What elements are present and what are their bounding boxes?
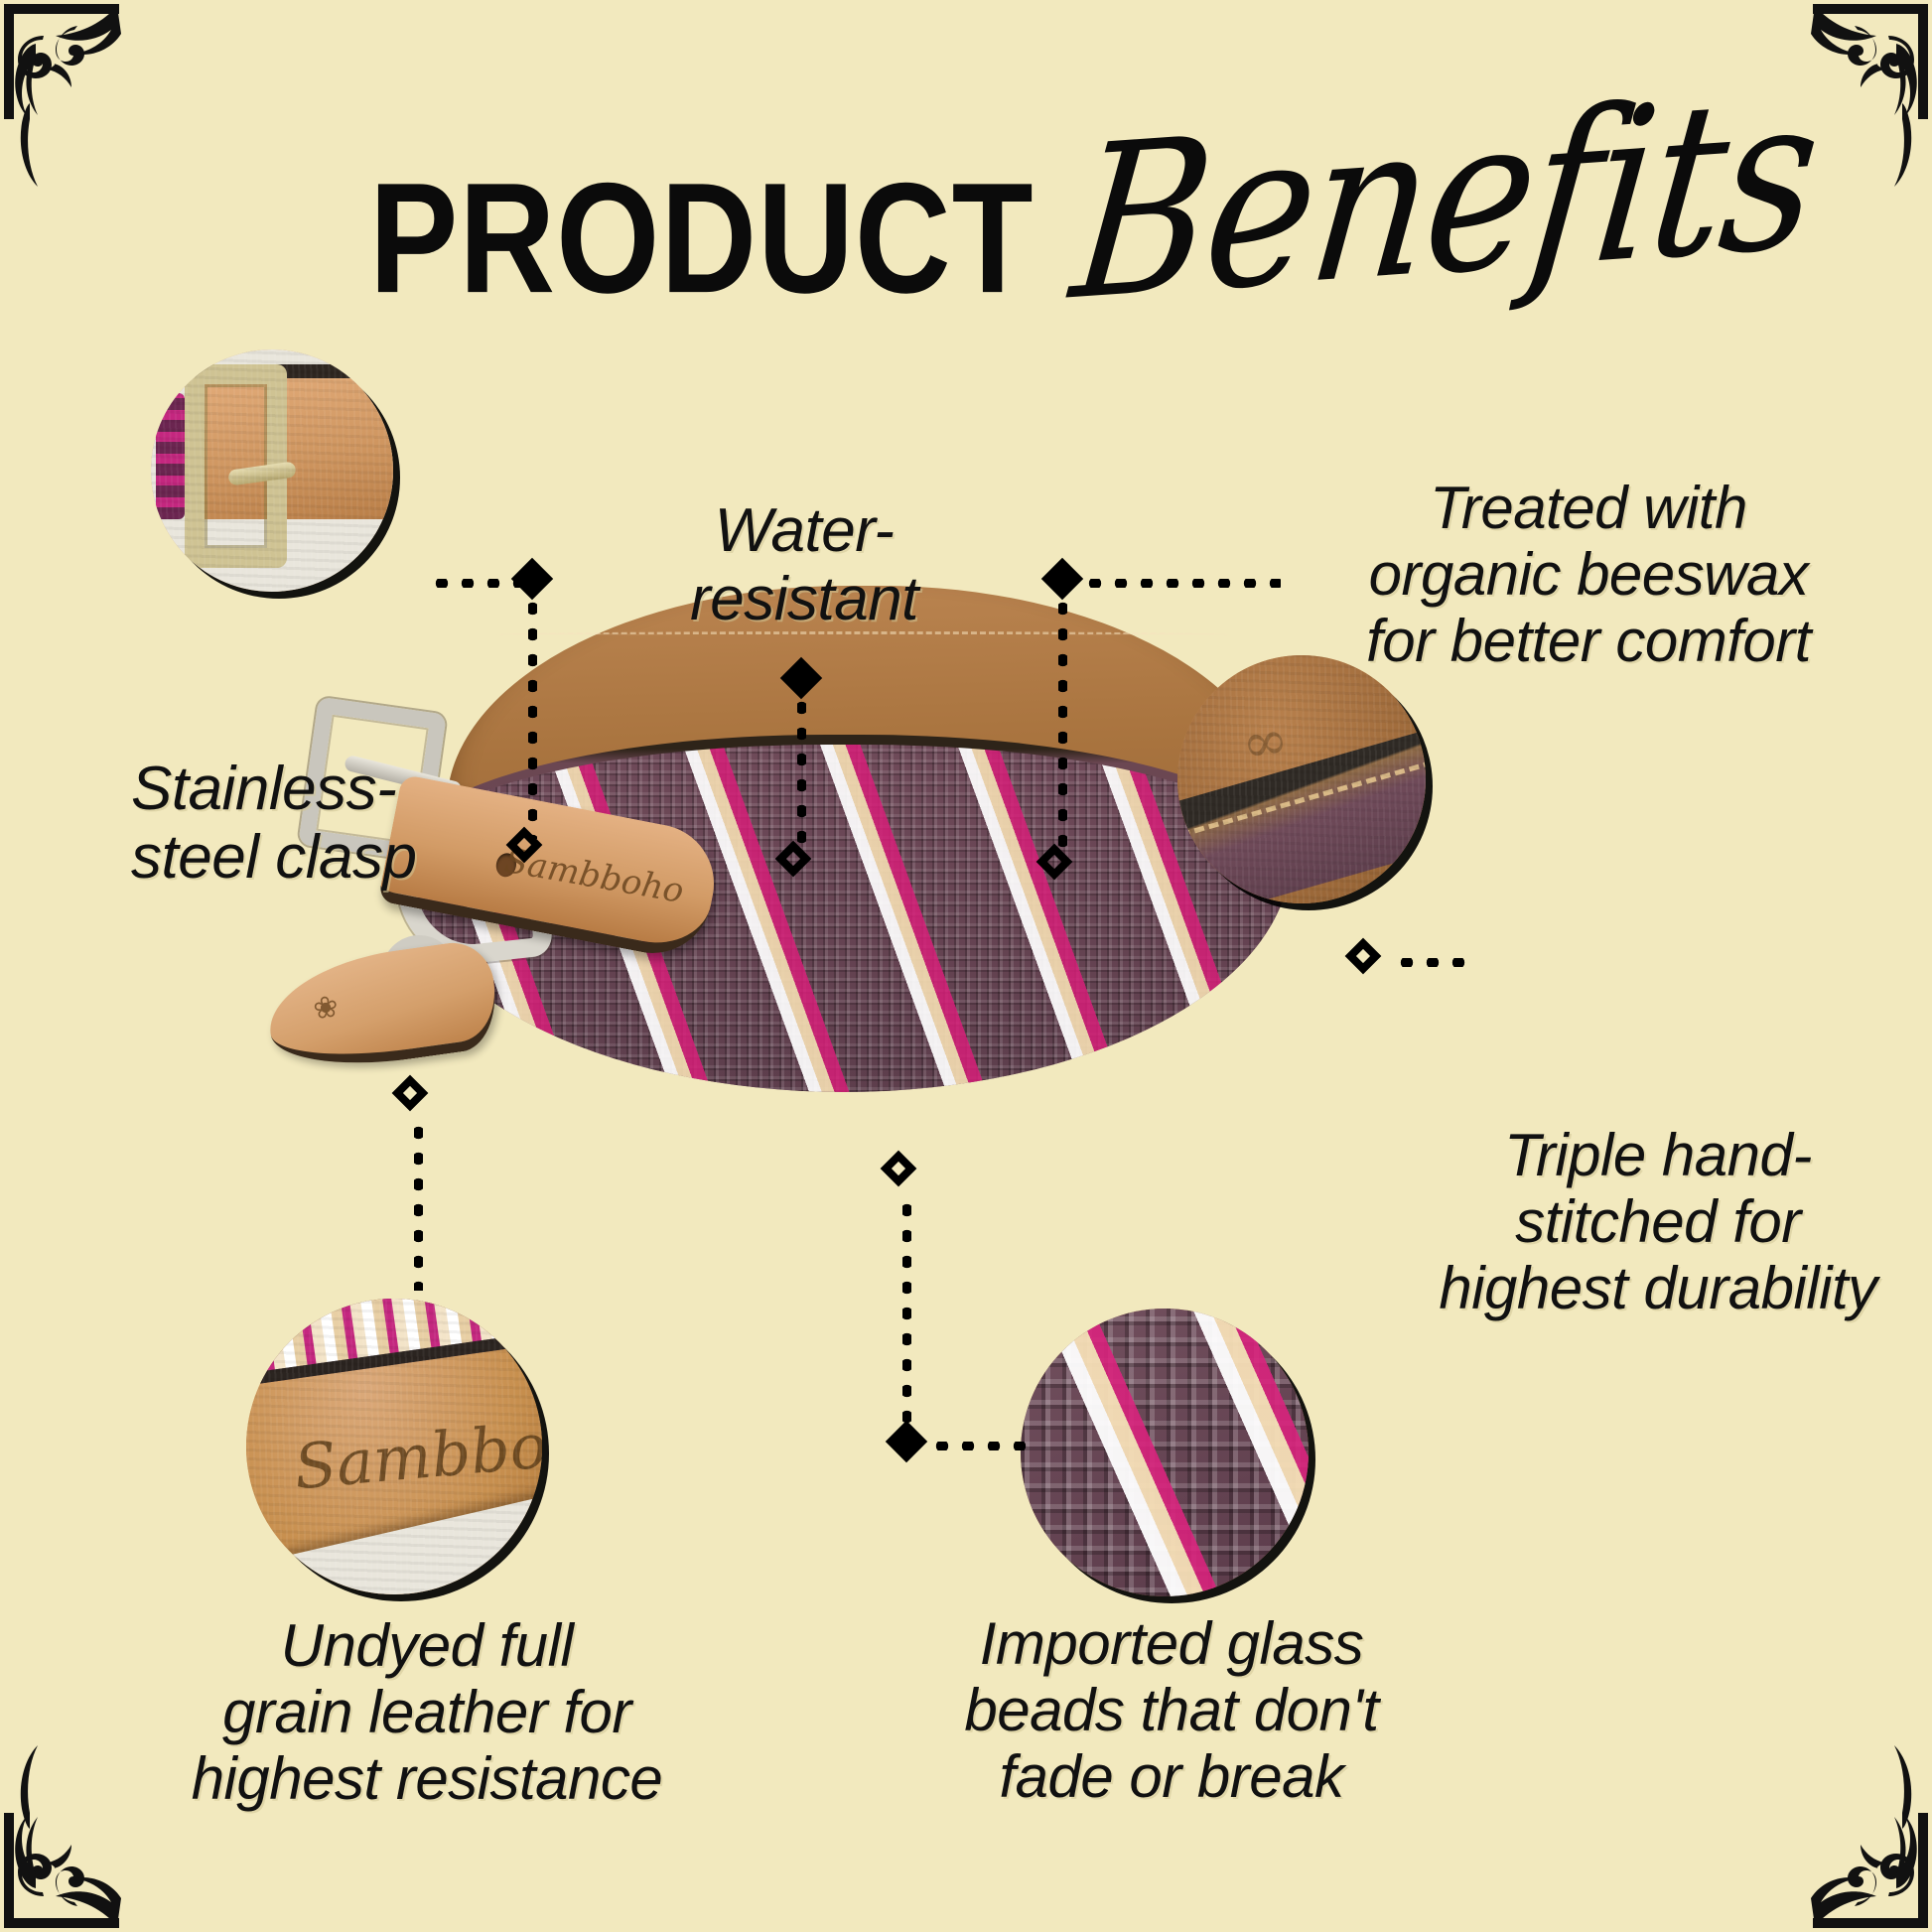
burned-brand-icon: ∞ xyxy=(1238,707,1293,777)
photo-circle-glass-beads xyxy=(1021,1309,1309,1596)
connector-start-diamond xyxy=(886,1421,927,1462)
infographic-canvas: PRODUCT Benefits Sambboho ❀ ∞ xyxy=(0,0,1932,1932)
callout-line: stitched for xyxy=(1400,1188,1916,1255)
callout-line: steel clasp xyxy=(131,823,548,892)
callout-line: fade or break xyxy=(923,1743,1420,1810)
callout-line: Undyed full xyxy=(149,1612,705,1679)
photo-circle-stitching: ∞ xyxy=(1177,655,1426,903)
title-benefits-script: Benefits xyxy=(1065,68,1826,331)
callout-line: beads that don't xyxy=(923,1677,1420,1743)
callout-label-glass-beads: Imported glass beads that don't fade or … xyxy=(923,1610,1420,1811)
callout-label-stainless-steel-clasp: Stainless- steel clasp xyxy=(131,755,548,893)
callout-line: Stainless- xyxy=(131,755,548,823)
callout-line: Imported glass xyxy=(923,1610,1420,1677)
callout-line: grain leather for xyxy=(149,1679,705,1745)
tag-flourish-icon: ❀ xyxy=(311,989,341,1027)
callout-line: highest resistance xyxy=(149,1745,705,1812)
callout-line: for better comfort xyxy=(1281,608,1896,674)
callout-label-undyed-leather: Undyed full grain leather for highest re… xyxy=(149,1612,705,1813)
title-product: PRODUCT xyxy=(369,161,1035,318)
brand-logo-stamp: Sambboho xyxy=(291,1403,542,1504)
page-title: PRODUCT Benefits xyxy=(0,129,1932,377)
callout-line: resistant xyxy=(625,565,983,633)
callout-line: highest durability xyxy=(1400,1255,1916,1321)
callout-line: Triple hand- xyxy=(1400,1122,1916,1188)
corner-ornament-icon xyxy=(1733,1733,1932,1932)
callout-label-organic-beeswax: Treated with organic beeswax for better … xyxy=(1281,475,1896,675)
leather-hang-tag: ❀ xyxy=(261,938,502,1078)
callout-line: Water- xyxy=(625,496,983,565)
callout-label-water-resistant: Water- resistant xyxy=(625,496,983,634)
callout-label-triple-hand-stitched: Triple hand- stitched for highest durabi… xyxy=(1400,1122,1916,1322)
photo-circle-clasp xyxy=(151,349,393,592)
callout-line: Treated with xyxy=(1281,475,1896,541)
callout-line: organic beeswax xyxy=(1281,541,1896,608)
connector-dots xyxy=(1394,958,1469,967)
photo-circle-branded-leather: Sambboho xyxy=(246,1299,542,1594)
connector-dots xyxy=(929,1442,1029,1450)
